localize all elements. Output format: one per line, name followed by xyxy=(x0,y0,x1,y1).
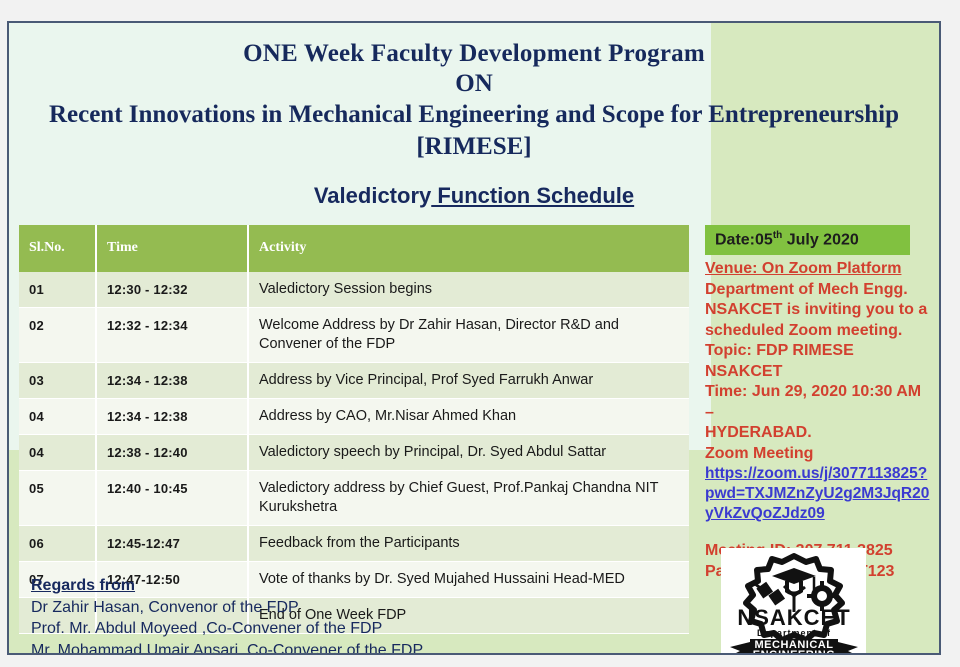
date-label: Date:05 xyxy=(715,231,773,248)
col-header-activity: Activity xyxy=(248,225,689,272)
cell-slno: 06 xyxy=(19,526,96,562)
schedule-table: Sl.No. Time Activity 0112:30 - 12:32Vale… xyxy=(19,225,689,634)
venue-block: Venue: On Zoom PlatformDepartment of Mec… xyxy=(705,259,933,464)
cell-slno: 03 xyxy=(19,363,96,399)
table-row: 0512:40 - 10:45Valedictory address by Ch… xyxy=(19,471,689,526)
page-title: Valedictory Function Schedule xyxy=(9,183,939,209)
body-row: Sl.No. Time Activity 0112:30 - 12:32Vale… xyxy=(9,225,939,634)
zoom-meeting-link[interactable]: https://zoom.us/j/3077113825?pwd=TXJMZnZ… xyxy=(705,464,933,524)
title-on: ON xyxy=(9,69,939,99)
nsakcet-logo: NSAKCET Department of MECHANICAL ENGINEE… xyxy=(721,548,866,655)
cell-time: 12:45-12:47 xyxy=(96,526,248,562)
title-block: ONE Week Faculty Development Program ON … xyxy=(9,23,939,163)
table-row: 0312:34 - 12:38Address by Vice Principal… xyxy=(19,363,689,399)
date-badge: Date:05th July 2020 xyxy=(705,225,910,255)
table-header-row: Sl.No. Time Activity xyxy=(19,225,689,272)
table-row: 0412:34 - 12:38Address by CAO, Mr.Nisar … xyxy=(19,399,689,435)
cell-time: 12:34 - 12:38 xyxy=(96,399,248,435)
cell-time: 12:40 - 10:45 xyxy=(96,471,248,526)
date-rest: July 2020 xyxy=(782,231,859,248)
regards-line: Dr Zahir Hasan, Convenor of the FDP xyxy=(31,597,477,619)
cell-time: 12:32 - 12:34 xyxy=(96,308,248,363)
venue-line: Topic: FDP RIMESE NSAKCET xyxy=(705,341,933,382)
table-row: 0212:32 - 12:34Welcome Address by Dr Zah… xyxy=(19,308,689,363)
venue-line: Venue: On Zoom Platform xyxy=(705,259,933,280)
regards-heading: Regards from xyxy=(31,575,477,597)
cell-activity: Valedictory speech by Principal, Dr. Sye… xyxy=(248,435,689,471)
regards-line: Mr. Mohammad Umair Ansari ,Co-Convener o… xyxy=(31,640,477,656)
cell-slno: 02 xyxy=(19,308,96,363)
cell-activity: Feedback from the Participants xyxy=(248,526,689,562)
program-title: ONE Week Faculty Development Program xyxy=(9,39,939,69)
venue-line: Zoom Meeting xyxy=(705,444,933,465)
venue-line: scheduled Zoom meeting. xyxy=(705,321,933,342)
date-ordinal: th xyxy=(773,230,782,241)
col-header-time: Time xyxy=(96,225,248,272)
cell-slno: 04 xyxy=(19,435,96,471)
cell-activity: Address by Vice Principal, Prof Syed Far… xyxy=(248,363,689,399)
table-row: 0412:38 - 12:40Valedictory speech by Pri… xyxy=(19,435,689,471)
cell-activity: Valedictory Session begins xyxy=(248,272,689,308)
cell-activity: Valedictory address by Chief Guest, Prof… xyxy=(248,471,689,526)
nsakcet-logo-icon: NSAKCET Department of MECHANICAL ENGINEE… xyxy=(724,550,864,655)
cell-activity: Welcome Address by Dr Zahir Hasan, Direc… xyxy=(248,308,689,363)
cell-time: 12:38 - 12:40 xyxy=(96,435,248,471)
logo-name: NSAKCET xyxy=(737,605,850,630)
table-head: Sl.No. Time Activity xyxy=(19,225,689,272)
regards-block: Regards from Dr Zahir Hasan, Convenor of… xyxy=(31,575,477,655)
col-header-slno: Sl.No. xyxy=(19,225,96,272)
regards-line: Prof. Mr. Abdul Moyeed ,Co-Convener of t… xyxy=(31,618,477,640)
venue-line: NSAKCET is inviting you to a xyxy=(705,300,933,321)
cell-activity: Address by CAO, Mr.Nisar Ahmed Khan xyxy=(248,399,689,435)
schedule-table-wrap: Sl.No. Time Activity 0112:30 - 12:32Vale… xyxy=(19,225,689,634)
subtitle-underlined: Function Schedule xyxy=(431,183,634,208)
table-row: 0112:30 - 12:32Valedictory Session begin… xyxy=(19,272,689,308)
subtitle-plain: Valedictory xyxy=(314,183,431,208)
info-column: Date:05th July 2020 Venue: On Zoom Platf… xyxy=(705,225,933,582)
table-row: 0612:45-12:47Feedback from the Participa… xyxy=(19,526,689,562)
cell-slno: 01 xyxy=(19,272,96,308)
poster-frame: ONE Week Faculty Development Program ON … xyxy=(7,21,941,655)
logo-dept: Department of xyxy=(756,628,830,638)
cell-time: 12:34 - 12:38 xyxy=(96,363,248,399)
cell-time: 12:30 - 12:32 xyxy=(96,272,248,308)
venue-line: HYDERABAD. xyxy=(705,423,933,444)
cell-slno: 05 xyxy=(19,471,96,526)
venue-line: Time: Jun 29, 2020 10:30 AM – xyxy=(705,382,933,423)
logo-line2: ENGINEERING xyxy=(752,649,835,655)
program-topic: Recent Innovations in Mechanical Enginee… xyxy=(9,99,939,163)
venue-line: Department of Mech Engg. xyxy=(705,280,933,301)
poster-content: ONE Week Faculty Development Program ON … xyxy=(9,23,939,634)
cell-slno: 04 xyxy=(19,399,96,435)
